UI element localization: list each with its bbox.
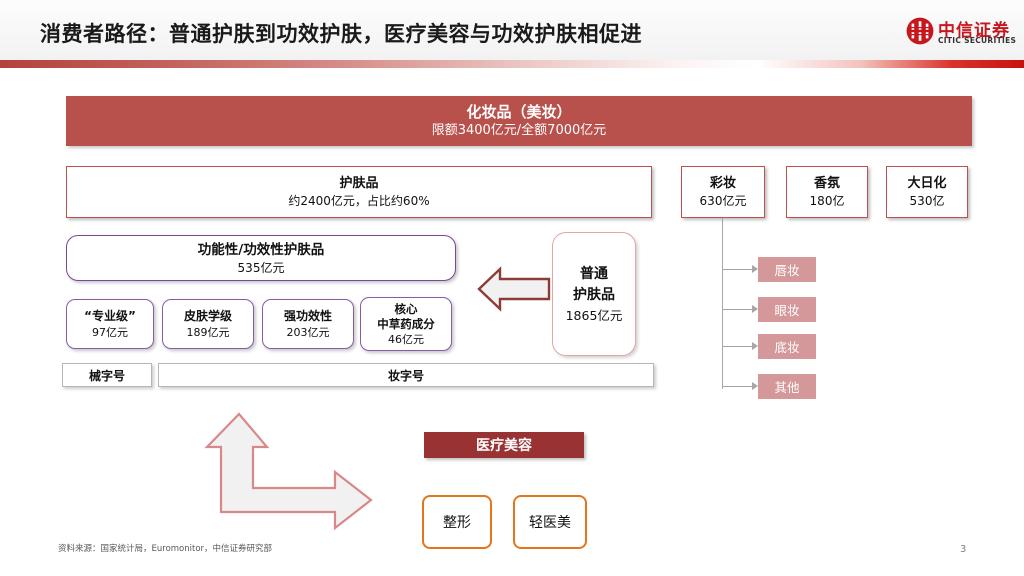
makeup-branch-line-3 <box>722 346 755 347</box>
makeup-branch-line-2 <box>722 309 755 310</box>
node-other-makeup: 其他 <box>758 374 816 399</box>
source-note: 资料来源：国家统计局，Euromonitor，中信证券研究部 <box>58 542 272 554</box>
makeup-branch-line-1 <box>722 269 755 270</box>
node-herbal-ingredients-title2: 中草药成分 <box>377 317 435 332</box>
node-medical-device-license: 械字号 <box>62 363 152 387</box>
node-cosmetics: 化妆品（美妆） 限额3400亿元/全额7000亿元 <box>66 96 972 146</box>
node-strong-efficacy: 强功效性 203亿元 <box>262 299 354 349</box>
citic-logo-mark <box>906 17 934 45</box>
node-other-makeup-label: 其他 <box>774 377 799 396</box>
node-makeup-sub: 630亿元 <box>700 193 747 210</box>
node-professional-grade-sub: 97亿元 <box>92 325 128 340</box>
node-skincare: 护肤品 约2400亿元，占比约60% <box>66 166 652 218</box>
makeup-tree-trunk <box>722 218 723 389</box>
node-dermatological-grade-title: 皮肤学级 <box>184 308 232 325</box>
node-herbal-ingredients: 核心 中草药成分 46亿元 <box>360 297 452 351</box>
node-cosmetic-license: 妆字号 <box>158 363 654 387</box>
node-fragrance-title: 香氛 <box>814 175 840 193</box>
node-cosmetics-sub: 限额3400亿元/全额7000亿元 <box>432 122 607 140</box>
node-base-makeup-label: 底妆 <box>774 337 799 356</box>
node-dermatological-grade: 皮肤学级 189亿元 <box>162 299 254 349</box>
node-herbal-ingredients-sub: 46亿元 <box>388 332 424 347</box>
node-skincare-title: 护肤品 <box>339 175 378 193</box>
node-medical-beauty: 医疗美容 <box>424 432 584 458</box>
logo-text-en: CITIC SECURITIES <box>938 36 1016 45</box>
node-plastic-surgery: 整形 <box>422 495 492 549</box>
node-medical-device-license-label: 械字号 <box>89 367 125 384</box>
node-skincare-sub: 约2400亿元，占比约60% <box>288 193 429 210</box>
slide-header: 消费者路径：普通护肤到功效护肤，医疗美容与功效护肤相促进 中信证券 CITIC … <box>0 0 1024 60</box>
makeup-branch-line-4 <box>722 386 755 387</box>
node-eye-makeup-label: 眼妆 <box>774 300 799 319</box>
node-light-medical-beauty: 轻医美 <box>513 495 587 549</box>
node-functional-skincare: 功能性/功效性护肤品 535亿元 <box>66 235 456 281</box>
page-number: 3 <box>960 544 966 555</box>
node-makeup-title: 彩妆 <box>710 175 736 193</box>
node-household-chemicals-sub: 530亿 <box>910 193 945 210</box>
node-herbal-ingredients-title: 核心 <box>395 302 418 317</box>
node-plastic-surgery-label: 整形 <box>443 512 471 532</box>
left-arrow-ordinary-to-functional <box>478 265 550 313</box>
node-fragrance: 香氛 180亿 <box>786 166 868 218</box>
page-title: 消费者路径：普通护肤到功效护肤，医疗美容与功效护肤相促进 <box>40 18 642 48</box>
citic-securities-logo: 中信证券 CITIC SECURITIES <box>906 16 1014 48</box>
node-medical-beauty-title: 医疗美容 <box>476 435 532 455</box>
node-ordinary-skincare-line1: 普通 <box>580 264 608 285</box>
node-cosmetics-title: 化妆品（美妆） <box>466 102 571 122</box>
node-lip-makeup: 唇妆 <box>758 257 816 282</box>
node-base-makeup: 底妆 <box>758 334 816 359</box>
slide-canvas: 消费者路径：普通护肤到功效护肤，医疗美容与功效护肤相促进 中信证券 CITIC … <box>0 0 1024 576</box>
bent-growth-arrow <box>183 404 379 541</box>
node-ordinary-skincare: 普通 护肤品 1865亿元 <box>552 232 636 356</box>
node-household-chemicals-title: 大日化 <box>907 175 946 193</box>
node-ordinary-skincare-line2: 护肤品 <box>573 285 615 306</box>
header-divider <box>0 60 1024 68</box>
node-cosmetic-license-label: 妆字号 <box>388 367 424 384</box>
node-light-medical-beauty-label: 轻医美 <box>529 512 571 532</box>
node-strong-efficacy-title: 强功效性 <box>284 308 332 325</box>
node-functional-skincare-sub: 535亿元 <box>238 260 285 276</box>
node-makeup: 彩妆 630亿元 <box>681 166 765 218</box>
node-professional-grade-title: “专业级” <box>84 308 136 325</box>
node-fragrance-sub: 180亿 <box>810 193 845 210</box>
node-household-chemicals: 大日化 530亿 <box>886 166 968 218</box>
node-eye-makeup: 眼妆 <box>758 297 816 322</box>
node-ordinary-skincare-line3: 1865亿元 <box>566 306 623 325</box>
node-professional-grade: “专业级” 97亿元 <box>66 299 154 349</box>
node-functional-skincare-title: 功能性/功效性护肤品 <box>198 241 324 260</box>
node-strong-efficacy-sub: 203亿元 <box>287 325 330 340</box>
node-lip-makeup-label: 唇妆 <box>774 260 799 279</box>
node-dermatological-grade-sub: 189亿元 <box>187 325 230 340</box>
